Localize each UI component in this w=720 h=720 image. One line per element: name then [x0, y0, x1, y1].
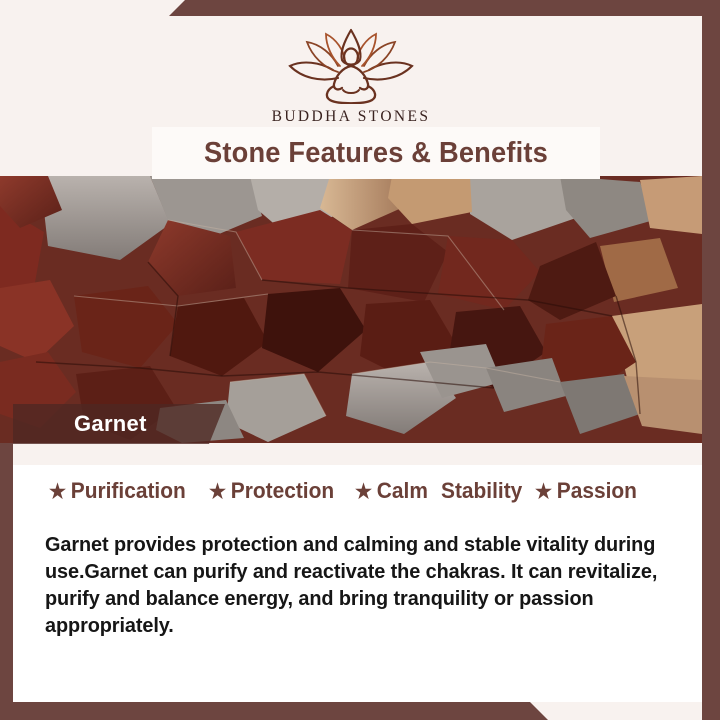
star-icon: ★	[355, 482, 372, 502]
left-accent-edge	[0, 430, 13, 720]
benefit-label: Stability	[441, 478, 522, 504]
benefit-label: Purification	[71, 478, 186, 504]
page-title: Stone Features & Benefits	[204, 137, 548, 170]
benefit-item-stability: Stability	[441, 478, 522, 504]
benefit-item-protection: ★ Protection	[209, 478, 334, 504]
brand-logo: BUDDHA STONES	[0, 26, 702, 126]
star-icon: ★	[49, 482, 66, 502]
brand-name: BUDDHA STONES	[272, 108, 431, 126]
stone-info-card: BUDDHA STONES Stone Features & Benefits	[0, 0, 720, 720]
stone-description: Garnet provides protection and calming a…	[13, 525, 681, 640]
stone-name: Garnet	[74, 411, 147, 437]
benefits-list: ★ Purification ★ Protection ★ Calm Stabi…	[13, 465, 702, 504]
stone-name-ribbon: Garnet	[13, 404, 225, 444]
lotus-meditation-icon	[276, 26, 426, 104]
benefit-label: Passion	[557, 478, 637, 504]
star-icon: ★	[209, 482, 226, 502]
benefit-item-calm: ★ Calm	[355, 478, 428, 504]
star-icon: ★	[535, 482, 552, 502]
title-panel: Stone Features & Benefits	[152, 127, 600, 179]
bottom-accent-band	[0, 702, 720, 720]
benefit-item-passion: ★ Passion	[535, 478, 637, 504]
garnet-crystal-photo	[0, 176, 702, 443]
photo-divider-strip	[13, 443, 702, 465]
benefit-item-purification: ★ Purification	[49, 478, 186, 504]
right-accent-edge	[702, 0, 720, 720]
benefit-label: Protection	[231, 478, 334, 504]
top-accent-band	[0, 0, 720, 16]
content-panel: ★ Purification ★ Protection ★ Calm Stabi…	[13, 465, 702, 702]
benefit-label: Calm	[376, 478, 427, 504]
